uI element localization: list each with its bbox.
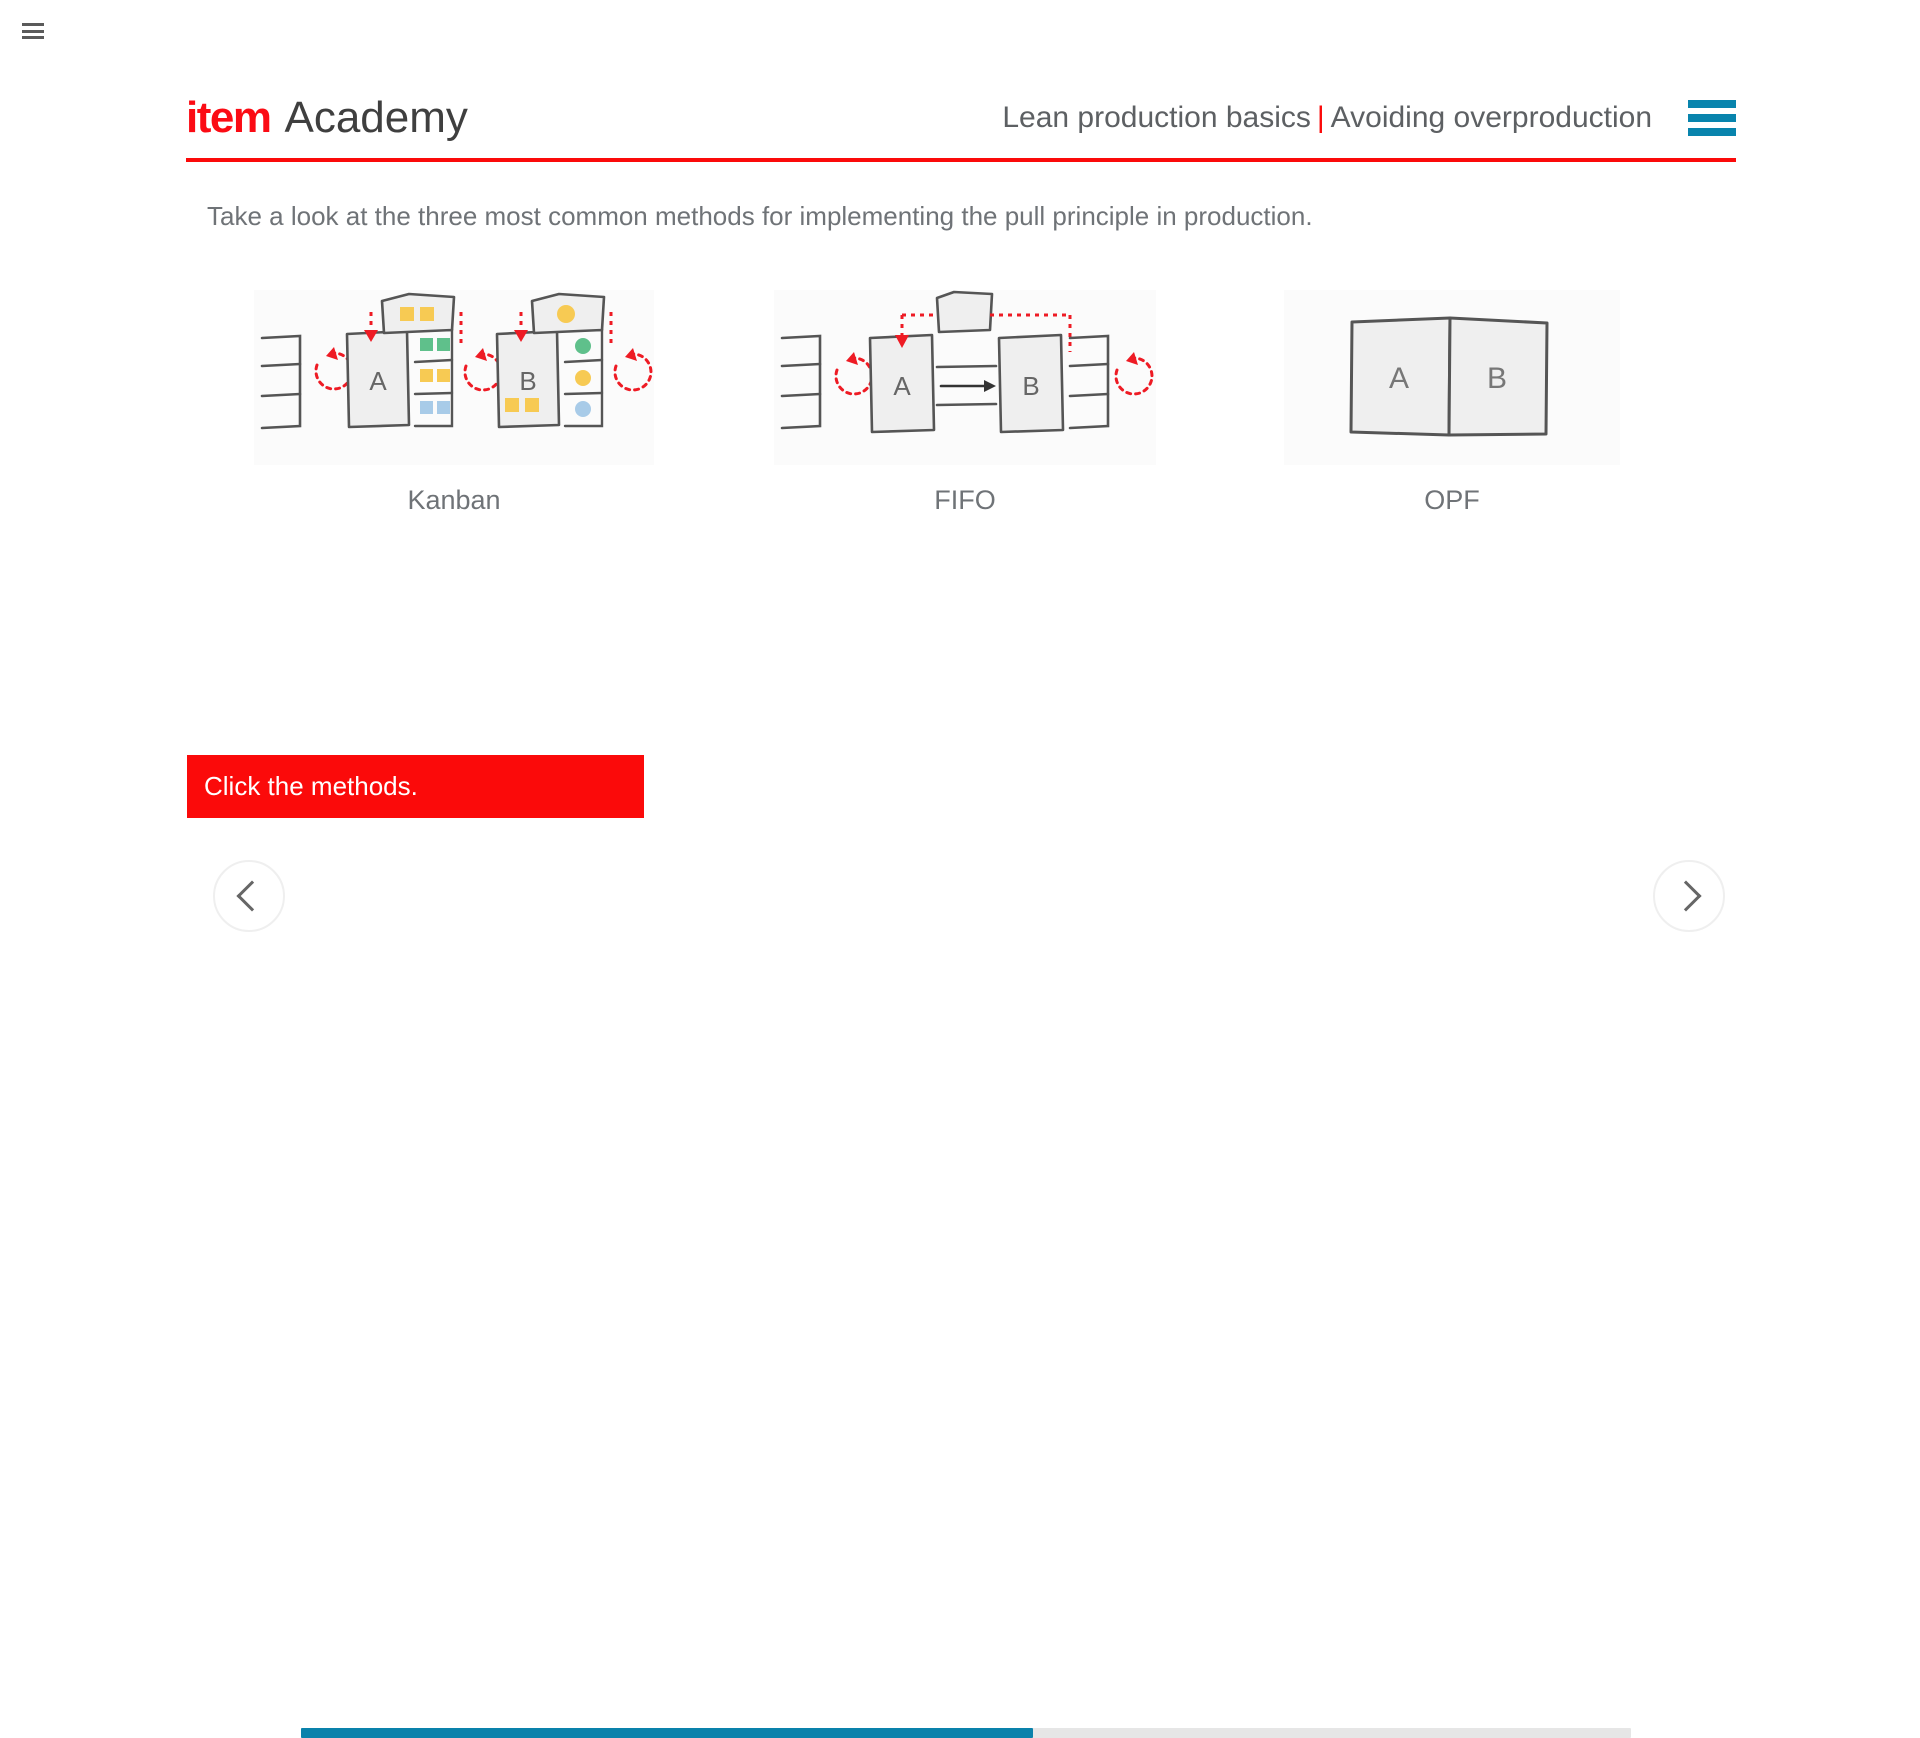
header-right: Lean production basics|Avoiding overprod… (1002, 100, 1736, 136)
opf-svg: A B (1284, 290, 1620, 465)
instruction-callout: Click the methods. (187, 755, 644, 818)
brand-logo[interactable]: item Academy (186, 93, 468, 143)
kanban-diagram: A (254, 290, 654, 465)
main-menu-hamburger-icon[interactable] (1688, 100, 1736, 136)
hamburger-bar (1688, 100, 1736, 108)
svg-text:B: B (519, 366, 536, 396)
previous-button[interactable] (213, 860, 285, 932)
svg-text:A: A (1389, 362, 1409, 395)
instruction-text: Click the methods. (187, 771, 418, 802)
hamburger-bar (22, 23, 44, 26)
chevron-right-icon (1670, 880, 1701, 911)
svg-text:B: B (1487, 362, 1507, 395)
svg-text:A: A (893, 371, 911, 401)
method-card-fifo[interactable]: A B (774, 290, 1156, 516)
svg-text:A: A (369, 366, 387, 396)
methods-row: A (186, 290, 1736, 525)
hamburger-bar (1688, 128, 1736, 136)
hamburger-bar (22, 30, 44, 33)
chevron-left-icon (236, 880, 267, 911)
page-header: item Academy Lean production basics|Avoi… (186, 78, 1736, 162)
intro-text: Take a look at the three most common met… (207, 201, 1313, 232)
next-button[interactable] (1653, 860, 1725, 932)
brand-secondary: Academy (284, 93, 467, 143)
kanban-svg: A (254, 290, 654, 465)
brand-primary: item (186, 93, 270, 143)
opf-diagram: A B (1284, 290, 1620, 465)
breadcrumb-separator: | (1317, 101, 1325, 134)
method-card-opf[interactable]: A B OPF (1284, 290, 1620, 516)
progress-bar-fill (301, 1728, 1033, 1738)
hamburger-bar (1688, 114, 1736, 122)
method-card-kanban[interactable]: A (254, 290, 654, 516)
system-hamburger-icon[interactable] (22, 23, 44, 39)
progress-bar[interactable] (301, 1728, 1631, 1738)
fifo-diagram: A B (774, 290, 1156, 465)
fifo-svg: A B (774, 290, 1156, 465)
breadcrumb-lesson: Avoiding overproduction (1331, 101, 1652, 134)
lesson-footer (0, 850, 1920, 955)
method-label-opf: OPF (1424, 485, 1480, 516)
breadcrumb: Lean production basics|Avoiding overprod… (1002, 101, 1652, 135)
lesson-page: item Academy Lean production basics|Avoi… (0, 0, 1920, 955)
breadcrumb-course: Lean production basics (1002, 101, 1311, 134)
svg-text:B: B (1022, 371, 1039, 401)
hamburger-bar (22, 36, 44, 39)
method-label-kanban: Kanban (407, 485, 500, 516)
method-label-fifo: FIFO (934, 485, 996, 516)
